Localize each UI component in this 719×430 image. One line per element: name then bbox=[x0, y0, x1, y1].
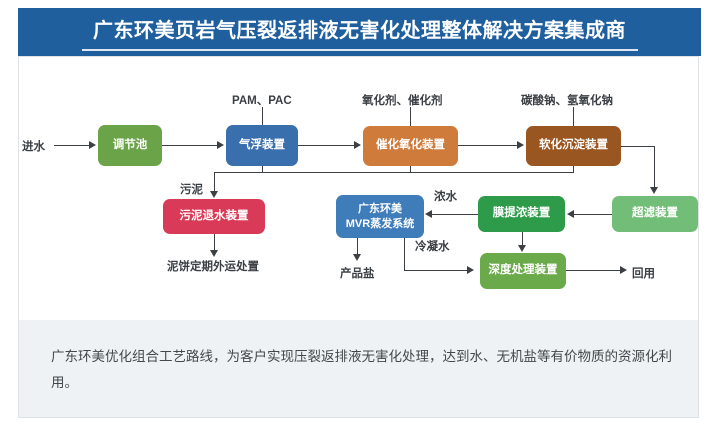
node-advanced-treatment-label: 深度处理装置 bbox=[489, 263, 558, 279]
page-title: 广东环美页岩气压裂返排液无害化处理整体解决方案集成商 bbox=[18, 8, 701, 48]
node-sludge-dewatering[interactable]: 污泥退水装置 bbox=[163, 199, 265, 234]
connector-advanced-treatment-to-reuse bbox=[566, 270, 621, 271]
connector-regulating-tank-to-air-flotation bbox=[162, 145, 218, 146]
connector-catalytic-oxidation-to-softening-settling bbox=[458, 145, 518, 146]
node-sludge-dewatering-label: 污泥退水装置 bbox=[180, 209, 249, 225]
arrowhead-ultrafiltration-to-membrane bbox=[567, 210, 574, 218]
connector-influent-to-regulating-tank bbox=[54, 145, 90, 146]
connector-dewatering-to-mud-cake bbox=[214, 234, 215, 251]
arrowhead-mvr-to-product-salt bbox=[353, 254, 361, 261]
label-soda-naoh: 碳酸钠、氢氧化钠 bbox=[521, 92, 613, 108]
node-catalytic-oxidation[interactable]: 催化氧化装置 bbox=[363, 126, 458, 166]
footnote-text: 广东环美优化组合工艺路线，为客户实现压裂返排液无害化处理，达到水、无机盐等有价物… bbox=[51, 344, 675, 395]
arrowhead-sludge-to-dewatering bbox=[210, 191, 218, 198]
node-mvr-evaporation[interactable]: 广东环美 MVR蒸发系统 bbox=[336, 195, 424, 238]
footnote-panel: 广东环美优化组合工艺路线，为客户实现压裂返排液无害化处理，达到水、无机盐等有价物… bbox=[19, 320, 698, 417]
node-air-flotation[interactable]: 气浮装置 bbox=[226, 125, 298, 166]
connector-mvr-to-product-salt bbox=[357, 238, 358, 255]
connector-sludge-bus-to-dewatering bbox=[214, 172, 215, 192]
node-advanced-treatment[interactable]: 深度处理装置 bbox=[480, 253, 566, 289]
title-underline-divider bbox=[82, 49, 638, 51]
label-influent: 进水 bbox=[22, 138, 45, 154]
connector-soda-naoh-dosing bbox=[573, 107, 574, 126]
node-membrane-concentration[interactable]: 膜提浓装置 bbox=[478, 196, 565, 232]
node-ultrafiltration[interactable]: 超滤装置 bbox=[612, 196, 698, 232]
node-ultrafiltration-label: 超滤装置 bbox=[632, 206, 678, 222]
label-condensate-water: 冷凝水 bbox=[415, 238, 450, 254]
arrowhead-membrane-to-mvr-concentrated bbox=[425, 210, 432, 218]
label-mud-cake-disposal: 泥饼定期外运处置 bbox=[167, 258, 259, 274]
label-oxidant-catalyst: 氧化剂、催化剂 bbox=[362, 92, 443, 108]
connector-ultrafiltration-to-membrane bbox=[574, 214, 612, 215]
connector-sludge-bus bbox=[214, 172, 574, 173]
connector-membrane-to-mvr-concentrated bbox=[432, 214, 478, 215]
arrowhead-dewatering-to-mud-cake bbox=[210, 250, 218, 257]
connector-softening-settling-to-ultrafiltration-h bbox=[621, 146, 655, 147]
connector-oxidant-catalyst-dosing bbox=[410, 107, 411, 126]
arrowhead-regulating-tank-to-air-flotation bbox=[217, 141, 224, 149]
connector-air-flotation-to-catalytic-oxidation bbox=[298, 145, 355, 146]
connector-mvr-condensate-h bbox=[404, 270, 468, 271]
node-catalytic-oxidation-label: 催化氧化装置 bbox=[376, 138, 445, 154]
connector-softening-settling-to-ultrafiltration-v bbox=[654, 146, 655, 188]
arrowhead-advanced-treatment-to-reuse bbox=[620, 266, 627, 274]
arrowhead-catalytic-oxidation-to-softening-settling bbox=[517, 141, 524, 149]
node-air-flotation-label: 气浮装置 bbox=[239, 138, 285, 154]
diagram-root: 广东环美页岩气压裂返排液无害化处理整体解决方案集成商 调节池 气浮装置 催化氧化… bbox=[0, 0, 719, 430]
node-membrane-concentration-label: 膜提浓装置 bbox=[493, 206, 551, 222]
node-regulating-tank-label: 调节池 bbox=[113, 138, 148, 154]
arrowhead-influent-to-regulating-tank bbox=[89, 141, 96, 149]
label-product-salt: 产品盐 bbox=[340, 265, 375, 281]
label-reuse: 回用 bbox=[632, 265, 655, 281]
header-banner: 广东环美页岩气压裂返排液无害化处理整体解决方案集成商 bbox=[18, 8, 701, 56]
label-concentrated-water: 浓水 bbox=[434, 188, 457, 204]
connector-membrane-to-advanced-treatment bbox=[522, 232, 523, 246]
arrowhead-membrane-to-advanced-treatment bbox=[518, 245, 526, 252]
node-regulating-tank[interactable]: 调节池 bbox=[98, 125, 162, 166]
node-softening-settling[interactable]: 软化沉淀装置 bbox=[526, 126, 621, 166]
arrowhead-air-flotation-to-catalytic-oxidation bbox=[354, 141, 361, 149]
node-mvr-evaporation-label-line2: MVR蒸发系统 bbox=[346, 217, 414, 232]
arrowhead-softening-settling-to-ultrafiltration bbox=[650, 187, 658, 194]
label-pam-pac: PAM、PAC bbox=[232, 92, 292, 108]
connector-mvr-condensate-v bbox=[404, 238, 405, 271]
node-softening-settling-label: 软化沉淀装置 bbox=[539, 138, 608, 154]
label-sludge: 污泥 bbox=[180, 181, 203, 197]
node-mvr-evaporation-label-line1: 广东环美 bbox=[358, 202, 402, 217]
arrowhead-mvr-condensate-to-advanced-treatment bbox=[467, 266, 474, 274]
connector-pam-pac-dosing bbox=[262, 107, 263, 125]
